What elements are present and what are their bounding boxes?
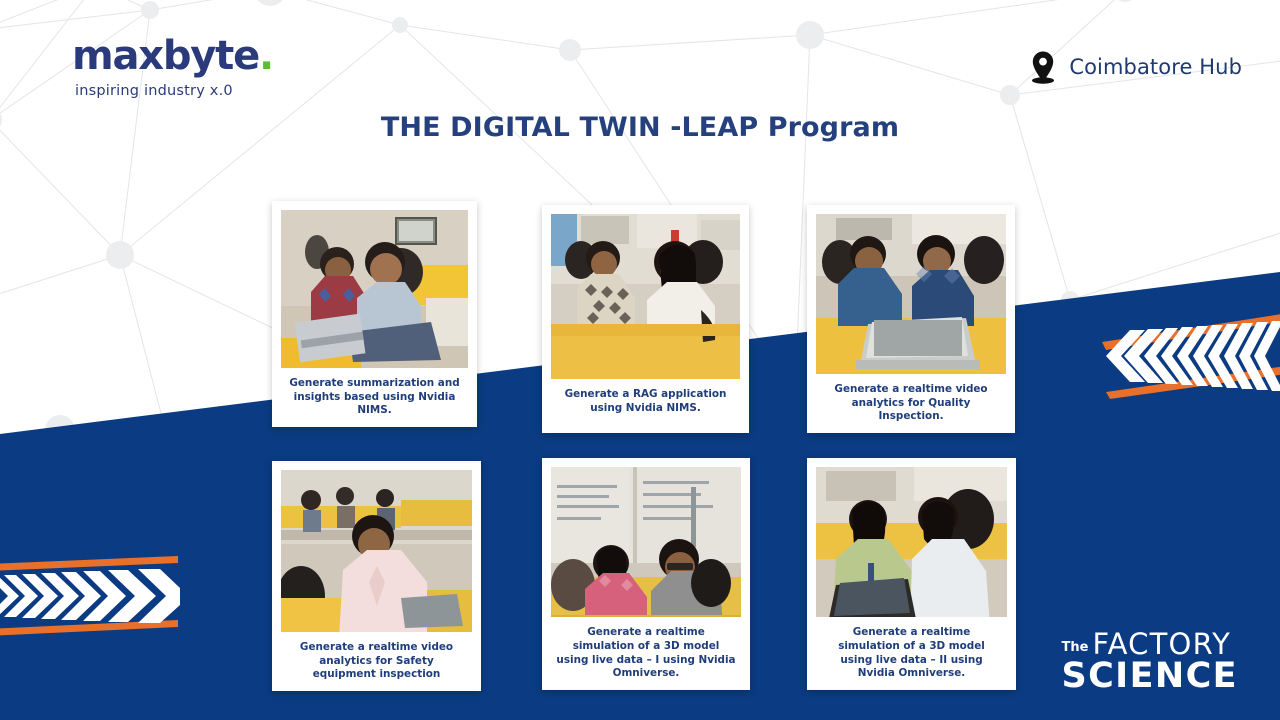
card-photo-5 [551, 467, 741, 617]
card-caption-4: Generate a realtime video analytics for … [281, 632, 472, 691]
card-caption-3: Generate a realtime video analytics for … [816, 374, 1006, 433]
photo-illustration-4 [281, 470, 472, 632]
chevron-arrows-left [1100, 300, 1280, 400]
location-hub: Coimbatore Hub [1028, 50, 1242, 84]
photo-illustration-6 [816, 467, 1007, 617]
photo-illustration-5 [551, 467, 741, 617]
fs-science-text: SCIENCE [1061, 659, 1238, 694]
maxbyte-logo: maxbyte. inspiring industry x.0 [72, 36, 273, 99]
card-photo-2 [551, 214, 740, 379]
photo-illustration-1 [281, 210, 468, 368]
chevron-arrows-right [0, 548, 180, 644]
map-pin-icon [1028, 50, 1058, 84]
program-card-1[interactable]: Generate summarization and insights base… [272, 201, 477, 427]
photo-illustration-3 [816, 214, 1006, 374]
location-hub-label: Coimbatore Hub [1069, 55, 1242, 79]
program-card-6[interactable]: Generate a realtime simulation of a 3D m… [807, 458, 1016, 690]
program-card-5[interactable]: Generate a realtime simulation of a 3D m… [542, 458, 750, 690]
program-card-3[interactable]: Generate a realtime video analytics for … [807, 205, 1015, 433]
card-caption-2: Generate a RAG application using Nvidia … [551, 379, 740, 424]
card-caption-5: Generate a realtime simulation of a 3D m… [551, 617, 741, 690]
card-photo-3 [816, 214, 1006, 374]
program-card-2[interactable]: Generate a RAG application using Nvidia … [542, 205, 749, 433]
card-photo-6 [816, 467, 1007, 617]
fs-the-text: The [1061, 642, 1088, 657]
the-factory-science-logo: The FACTORY SCIENCE [1061, 631, 1238, 694]
photo-illustration-2 [551, 214, 740, 379]
logo-text: maxbyte [72, 33, 259, 79]
logo-green-dot: . [259, 33, 273, 79]
slide-canvas: maxbyte. inspiring industry x.0 Coimbato… [0, 0, 1280, 720]
program-card-4[interactable]: Generate a realtime video analytics for … [272, 461, 481, 691]
page-title: THE DIGITAL TWIN -LEAP Program [0, 112, 1280, 143]
card-caption-6: Generate a realtime simulation of a 3D m… [816, 617, 1007, 690]
fs-factory-text: FACTORY [1092, 631, 1231, 657]
card-photo-1 [281, 210, 468, 368]
logo-wordmark: maxbyte. [72, 36, 273, 76]
card-photo-4 [281, 470, 472, 632]
logo-tagline: inspiring industry x.0 [75, 83, 273, 99]
card-caption-1: Generate summarization and insights base… [281, 368, 468, 427]
